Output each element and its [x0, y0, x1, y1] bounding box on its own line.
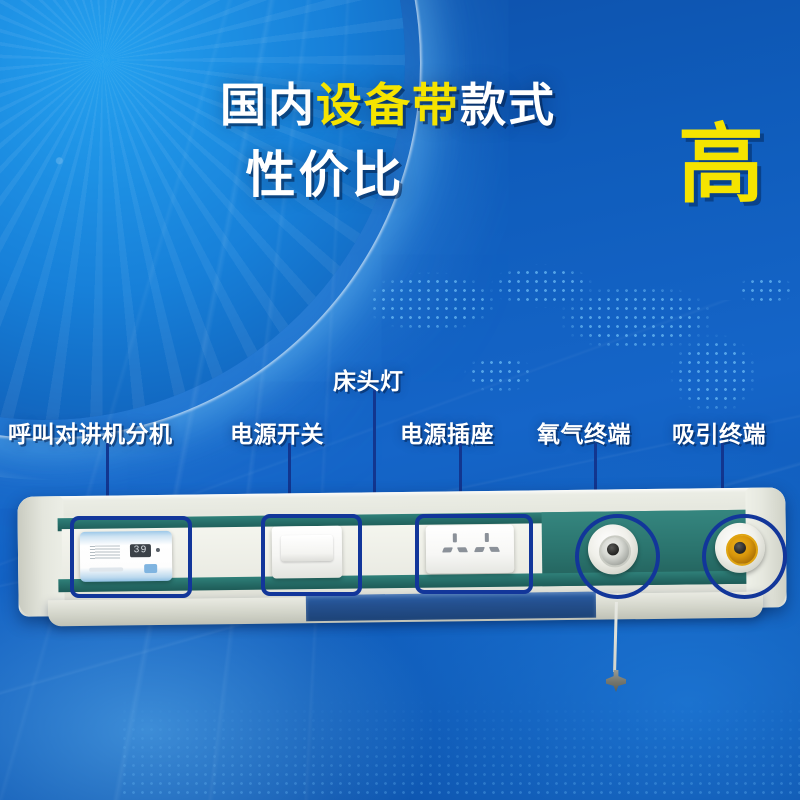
headline-accent-word: 高: [678, 122, 764, 208]
bed-head-unit: 39: [18, 492, 786, 632]
atmosphere-halo: [0, 0, 460, 480]
intercom-call-button[interactable]: [144, 564, 157, 573]
headline-line-2-text: 性价比: [246, 147, 405, 203]
callout-label-power-switch: 电源开关: [230, 415, 324, 449]
headline-part-1: 国内: [220, 79, 316, 131]
bed-lamp-diffuser: [306, 592, 596, 622]
nurse-call-intercom-unit[interactable]: 39: [80, 531, 173, 582]
socket-pin-top: [485, 533, 489, 542]
halftone-bottom-dots: [120, 680, 800, 800]
intercom-slot: [89, 567, 123, 571]
headline-block: 国内设备带款式 性价比 高: [0, 82, 800, 200]
promo-banner: 国内设备带款式 性价比 高 呼叫对讲机分机 电源开关 床头灯 电源插座 氧气终端…: [0, 0, 800, 800]
socket-pin-left: [442, 547, 453, 552]
callout-label-suction: 吸引终端: [672, 415, 766, 449]
pull-cord-grip[interactable]: [606, 670, 626, 692]
suction-terminal-port: [734, 542, 746, 554]
status-indicator-dot: [156, 548, 160, 552]
intercom-display: 39: [130, 544, 151, 557]
socket-pin-right: [457, 547, 468, 552]
headline-part-2-highlight: 设备带: [316, 79, 460, 131]
headline-line-2: 性价比 高: [0, 150, 800, 200]
socket-pin-left: [474, 547, 485, 552]
pull-cord[interactable]: [613, 602, 618, 672]
power-socket-unit[interactable]: [426, 525, 515, 574]
socket-pin-right: [489, 547, 500, 552]
socket-outlet-left[interactable]: [438, 533, 472, 563]
socket-outlet-right[interactable]: [470, 533, 504, 563]
oxygen-terminal-port: [607, 543, 619, 555]
device-end-cap-left: [17, 496, 64, 617]
switch-rocker[interactable]: [281, 535, 333, 562]
callout-label-oxygen: 氧气终端: [537, 415, 631, 449]
callout-label-intercom: 呼叫对讲机分机: [8, 415, 173, 449]
callout-label-bed-lamp: 床头灯: [333, 362, 404, 396]
speaker-grille-icon: [90, 545, 120, 559]
callout-label-power-socket: 电源插座: [400, 415, 494, 449]
socket-pin-top: [453, 533, 457, 542]
power-switch-unit[interactable]: [272, 526, 343, 579]
headline-part-3: 款式: [460, 79, 556, 131]
